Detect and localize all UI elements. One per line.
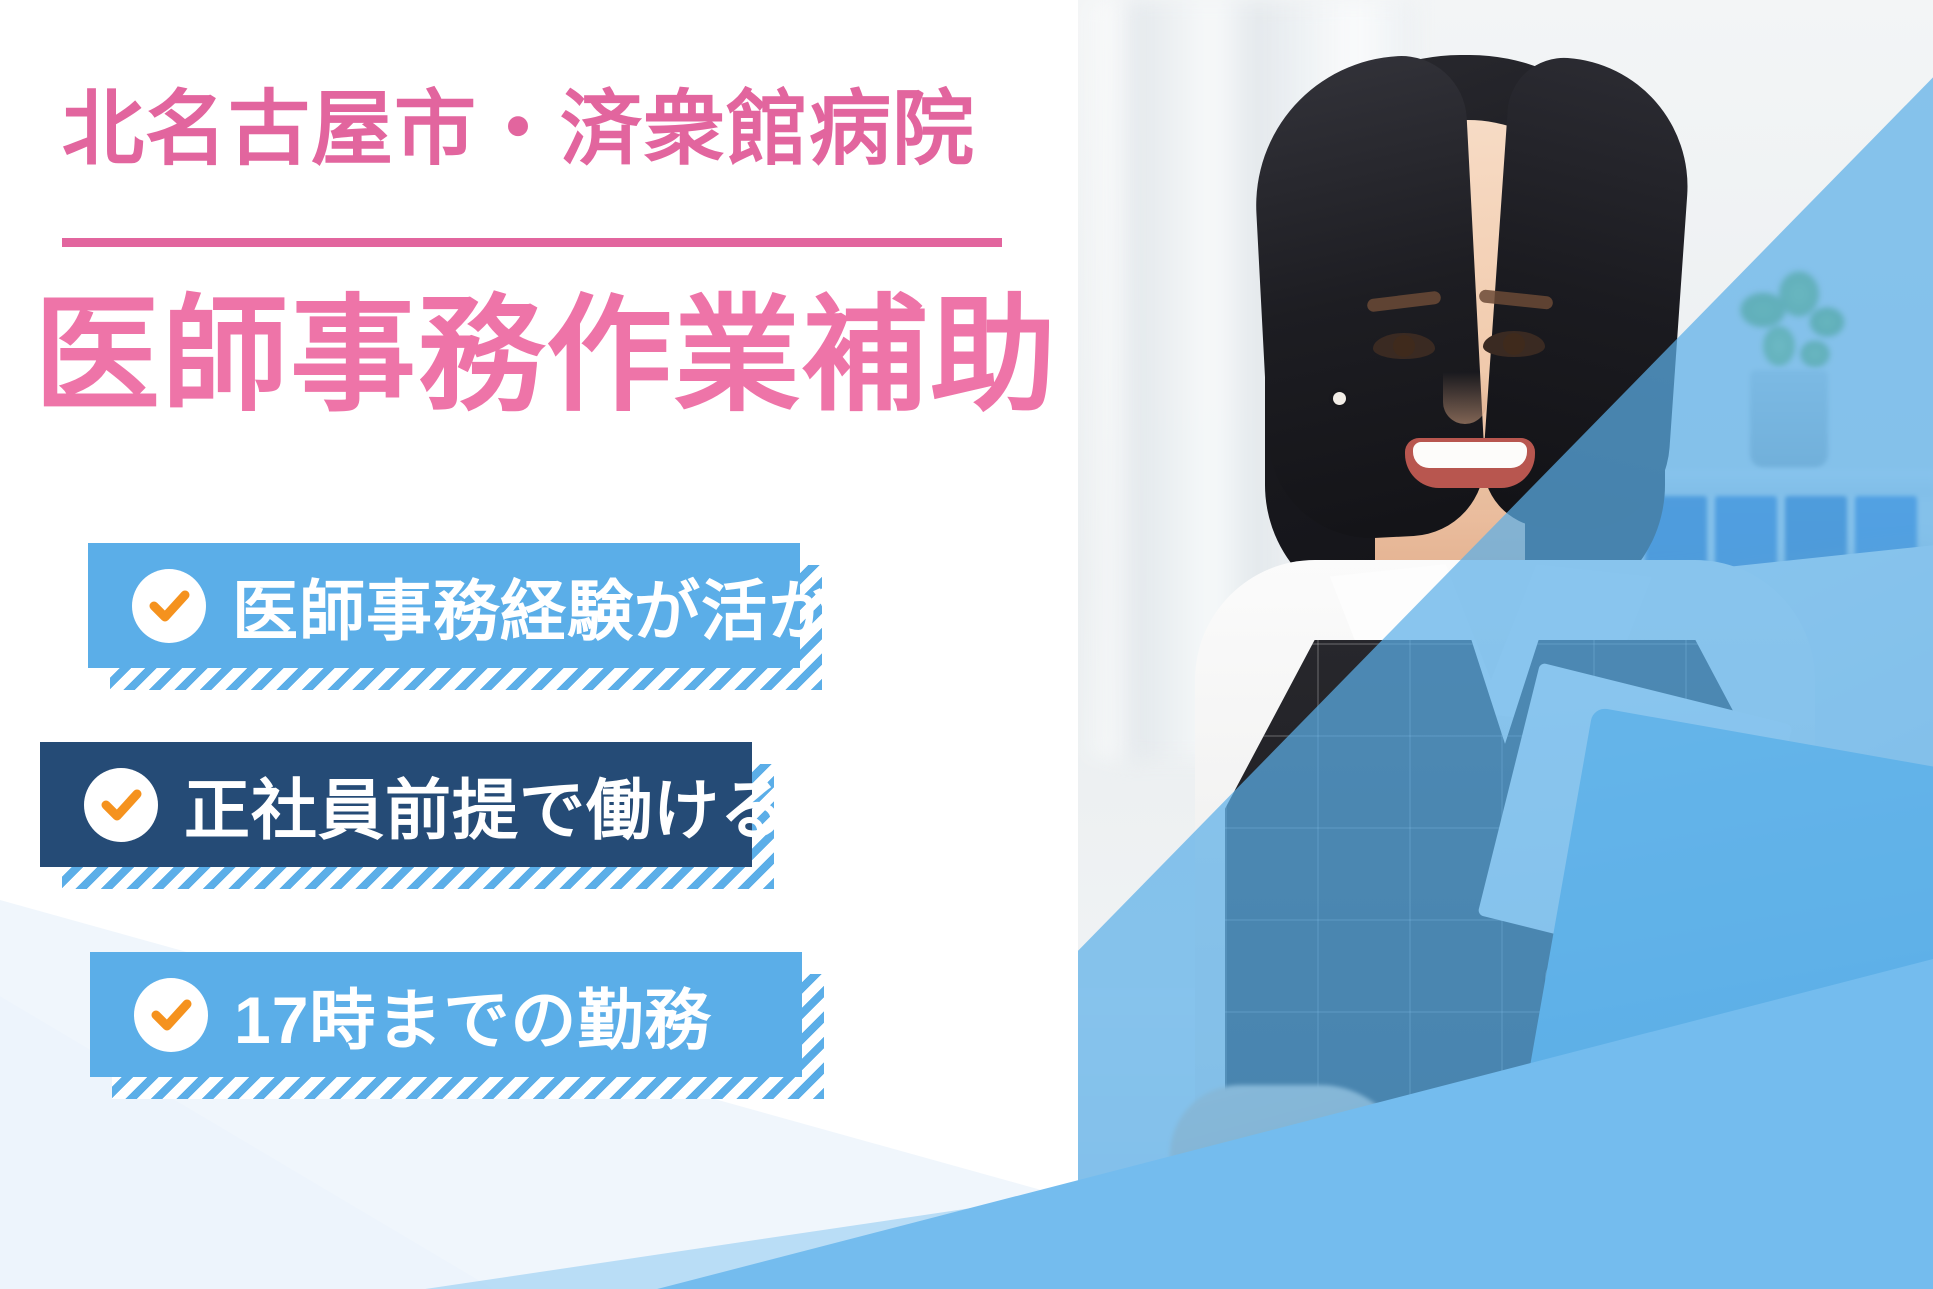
text-pane: 北名古屋市・済衆館病院 医師事務作業補助 医師事務経験が活かせる [0,0,1078,1289]
feature-badge: 17時までの勤務 [90,952,802,1077]
job-title: 医師事務作業補助 [34,290,1058,422]
job-ad-banner: 北名古屋市・済衆館病院 医師事務作業補助 医師事務経験が活かせる [0,0,1933,1289]
computer-mouse [1300,1185,1420,1263]
badge-label: 17時までの勤務 [234,967,711,1063]
badge-bar: 医師事務経験が活かせる [88,543,800,668]
badge-bar: 正社員前提で働ける [40,742,752,867]
hospital-location-heading: 北名古屋市・済衆館病院 [62,85,975,175]
photo-pane [1075,0,1933,1289]
feature-badge: 正社員前提で働ける [40,742,752,867]
check-circle-icon [84,768,158,842]
person-photo [1075,0,1933,1289]
badge-label: 正社員前提で働ける [184,757,787,853]
badge-bar: 17時までの勤務 [90,952,802,1077]
eye-left [1373,333,1435,359]
feature-badge: 医師事務経験が活かせる [88,543,800,668]
check-circle-icon [132,569,206,643]
nose [1443,372,1487,424]
badge-label: 医師事務経験が活かせる [232,558,969,654]
heading-divider [62,238,1002,247]
check-circle-icon [134,978,208,1052]
mouth [1405,438,1535,488]
earring [1333,392,1346,405]
eye-right [1483,331,1545,357]
